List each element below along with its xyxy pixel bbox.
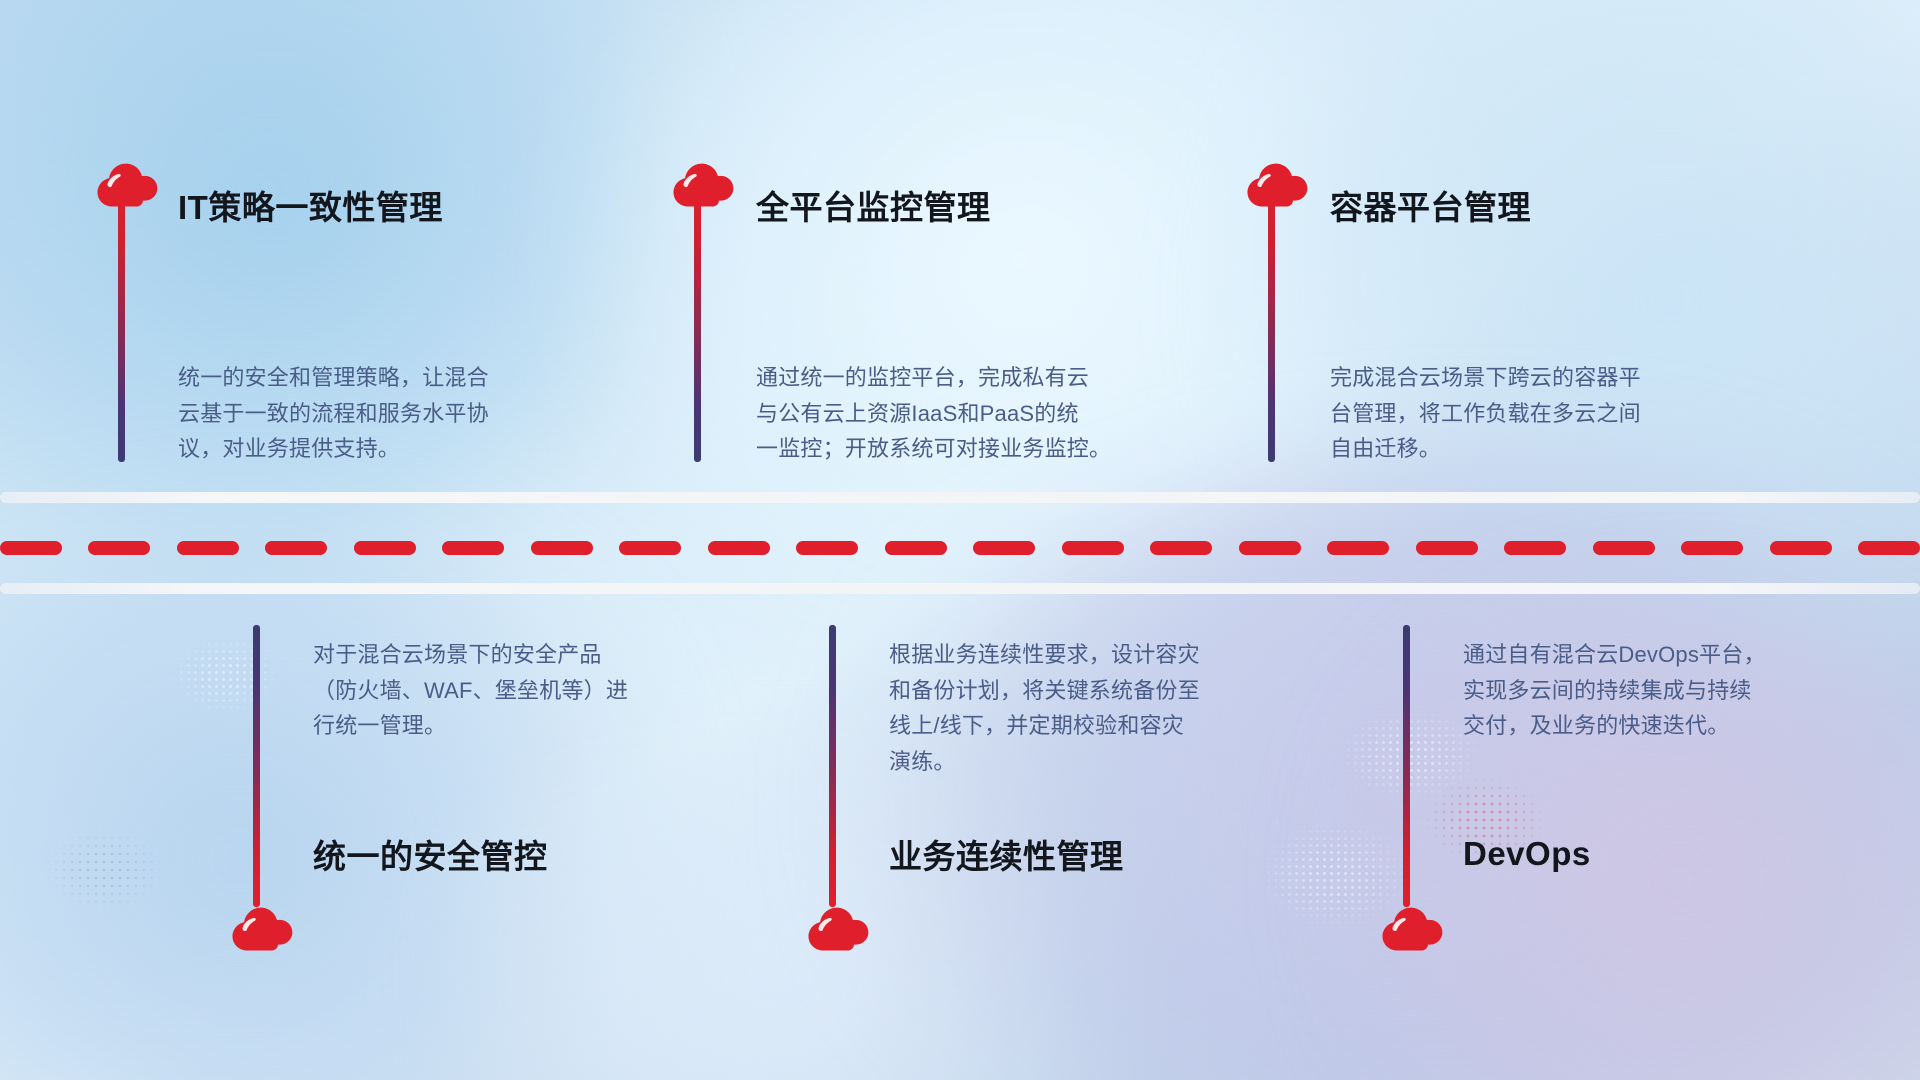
road-dash-segment: [354, 541, 416, 555]
column-title: IT策略一致性管理: [178, 181, 443, 229]
road-dash-segment: [708, 541, 770, 555]
road-dash-segment: [1416, 541, 1478, 555]
connector-line: [253, 625, 260, 907]
road-dash-segment: [1504, 541, 1566, 555]
road-dash-segment: [619, 541, 681, 555]
column-body: 通过统一的监控平台，完成私有云 与公有云上资源IaaS和PaaS的统 一监控；开…: [756, 360, 1216, 467]
road-dash-segment: [1150, 541, 1212, 555]
cloud-icon: [96, 163, 158, 209]
connector-line: [694, 180, 701, 462]
road-edge-bottom: [0, 583, 1920, 594]
cloud-icon: [1246, 163, 1308, 209]
road-dash-segment: [1681, 541, 1743, 555]
road-dash-segment: [0, 541, 62, 555]
column-title: DevOps: [1463, 835, 1591, 873]
decorative-dots-blue: [20, 810, 190, 930]
road-dash-segment: [265, 541, 327, 555]
cloud-icon: [807, 907, 869, 953]
column-title: 全平台监控管理: [756, 181, 991, 229]
road-dash-segment: [1239, 541, 1301, 555]
road-dash-segment: [973, 541, 1035, 555]
road-dashed-line: [0, 541, 1920, 555]
infographic-canvas: IT策略一致性管理 统一的安全和管理策略，让混合 云基于一致的流程和服务水平协 …: [0, 0, 1920, 1080]
road-dash-segment: [796, 541, 858, 555]
road-dash-segment: [1593, 541, 1655, 555]
cloud-icon: [231, 907, 293, 953]
decorative-dots-left: [150, 620, 300, 730]
road-dash-segment: [885, 541, 947, 555]
road-dash-segment: [531, 541, 593, 555]
road-dash-segment: [88, 541, 150, 555]
road-dash-segment: [1327, 541, 1389, 555]
column-body: 对于混合云场景下的安全产品 （防火墙、WAF、堡垒机等）进 行统一管理。: [313, 637, 753, 744]
road-dash-segment: [442, 541, 504, 555]
road-dash-segment: [1062, 541, 1124, 555]
road-edge-top: [0, 492, 1920, 503]
road-dash-segment: [1858, 541, 1920, 555]
column-title: 容器平台管理: [1330, 181, 1531, 229]
column-title: 统一的安全管控: [313, 830, 548, 878]
column-body: 完成混合云场景下跨云的容器平 台管理，将工作负载在多云之间 自由迁移。: [1330, 360, 1770, 467]
road-dash-segment: [1770, 541, 1832, 555]
connector-line: [1403, 625, 1410, 907]
connector-line: [118, 180, 125, 462]
column-body: 统一的安全和管理策略，让混合 云基于一致的流程和服务水平协 议，对业务提供支持。: [178, 360, 618, 467]
connector-line: [829, 625, 836, 907]
column-body: 根据业务连续性要求，设计容灾 和备份计划，将关键系统备份至 线上/线下，并定期校…: [889, 637, 1329, 780]
connector-line: [1268, 180, 1275, 462]
column-title: 业务连续性管理: [889, 830, 1124, 878]
cloud-icon: [672, 163, 734, 209]
road-dash-segment: [177, 541, 239, 555]
cloud-icon: [1381, 907, 1443, 953]
column-body: 通过自有混合云DevOps平台， 实现多云间的持续集成与持续 交付，及业务的快速…: [1463, 637, 1903, 744]
